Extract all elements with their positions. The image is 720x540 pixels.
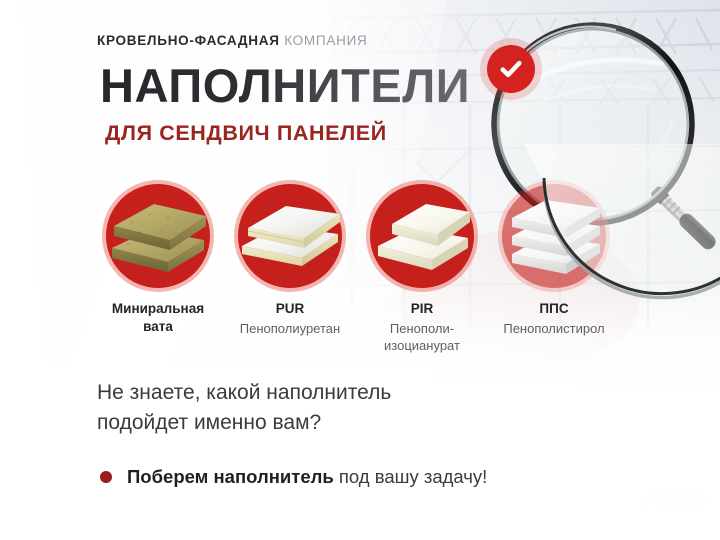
product-item-pps[interactable]: ППС Пенополистирол (488, 184, 620, 337)
product-item-mineral-wool[interactable]: Миниральная вата (92, 184, 224, 336)
product-name: Миниральная вата (92, 300, 224, 336)
cta-rest-text: под вашу задачу! (334, 466, 488, 487)
product-description: Пенополистирол (488, 320, 620, 337)
check-badge (487, 45, 535, 93)
pir-panel-icon (370, 184, 474, 288)
avito-watermark: Avito (611, 483, 706, 514)
question-line1: Не знаете, какой наполнитель (97, 381, 391, 404)
kicker-strong-text: КРОВЕЛЬНО-ФАСАДНАЯ (97, 33, 280, 48)
cta-bold-text: Поберем наполнитель (127, 466, 334, 487)
product-description-line2: изоцианурат (384, 338, 460, 353)
page-title: НАПОЛНИТЕЛИ (100, 62, 470, 109)
cta-text: Поберем наполнитель под вашу задачу! (127, 466, 487, 488)
pur-panel-icon (238, 184, 342, 288)
product-list: Миниральная вата (84, 184, 644, 354)
avito-watermark-text: Avito (643, 483, 706, 514)
question-text: Не знаете, какой наполнитель подойдет им… (97, 378, 391, 438)
product-description-line1: Пенополи- (390, 321, 454, 336)
product-name: PUR (224, 300, 356, 318)
product-description: Пенополи- изоцианурат (356, 320, 488, 354)
page-subtitle: ДЛЯ СЕНДВИЧ ПАНЕЛЕЙ (105, 121, 387, 146)
product-name: PIR (356, 300, 488, 318)
product-item-pur[interactable]: PUR Пенополиуретан (224, 184, 356, 337)
pps-panel-icon (502, 184, 606, 288)
product-name-line1: Миниральная (112, 301, 204, 316)
company-kicker: КРОВЕЛЬНО-ФАСАДНАЯ КОМПАНИЯ (97, 33, 368, 48)
product-item-pir[interactable]: PIR Пенополи- изоцианурат (356, 184, 488, 354)
avito-logo-icon (611, 486, 637, 512)
mineral-wool-slab-icon (106, 184, 210, 288)
product-name: ППС (488, 300, 620, 318)
product-name-line2: вата (143, 319, 173, 334)
bullet-dot-icon (100, 471, 112, 483)
cta-row: Поберем наполнитель под вашу задачу! (100, 466, 487, 488)
product-description: Пенополиуретан (224, 320, 356, 337)
promo-banner: КРОВЕЛЬНО-ФАСАДНАЯ КОМПАНИЯ НАПОЛНИТЕЛИ … (0, 0, 720, 540)
kicker-light-text: КОМПАНИЯ (284, 33, 367, 48)
question-line2: подойдет именно вам? (97, 411, 321, 434)
check-icon (498, 56, 524, 82)
